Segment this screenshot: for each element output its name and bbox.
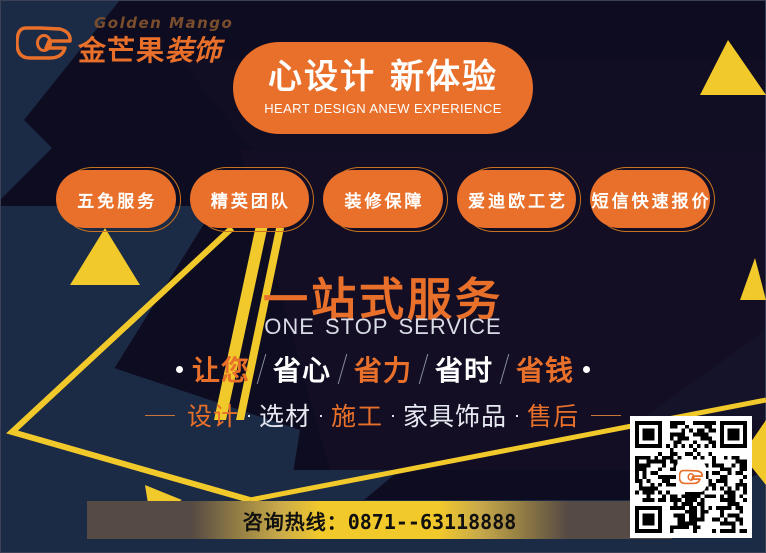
services-rule-left-icon — [145, 415, 175, 416]
logo-chinese-sub: 装饰 — [165, 35, 221, 66]
pill-item-1[interactable]: 五免服务 — [56, 170, 176, 228]
pill-label-4: 爱迪欧工艺 — [465, 187, 568, 212]
pill-body-3[interactable]: 装修保障 — [323, 170, 443, 228]
benefits-bullet-right-icon — [583, 366, 590, 373]
onestop-word-service: SERVICE — [399, 314, 502, 339]
headline-banner: 心设计新体验 HEART DESIGN ANEW EXPERIENCE — [233, 42, 533, 134]
pill-item-5[interactable]: 短信快速报价 — [590, 170, 710, 228]
pill-body-4[interactable]: 爱迪欧工艺 — [457, 170, 577, 228]
benefit-item-5: 省钱 — [516, 349, 574, 389]
benefits-row: 让您 省心 省力 省时 省钱 — [0, 350, 766, 388]
pill-body-2[interactable]: 精英团队 — [190, 170, 310, 228]
benefit-item-2: 省心 — [273, 349, 331, 389]
service-separator-3: · — [390, 405, 396, 426]
pill-label-3: 装修保障 — [341, 187, 424, 212]
qr-code[interactable] — [630, 416, 752, 538]
benefits-bullet-left-icon — [176, 366, 183, 373]
pill-label-1: 五免服务 — [74, 187, 157, 212]
service-item-4: 家具饰品 — [403, 397, 507, 433]
benefit-item-4: 省时 — [435, 349, 493, 389]
onestop-english-heading: ONESTOPSERVICE — [0, 314, 766, 340]
pill-label-2: 精英团队 — [208, 187, 291, 212]
service-separator-4: · — [514, 405, 520, 426]
benefit-separator-2-icon — [338, 354, 348, 384]
hotline-text: 咨询热线：0871--63118888 — [243, 506, 517, 535]
qr-code-canvas — [635, 421, 747, 533]
hotline-number[interactable]: 0871--63118888 — [348, 510, 517, 534]
benefit-separator-3-icon — [419, 354, 429, 384]
onestop-word-one: ONE — [264, 314, 315, 339]
logo-chinese-main: 金芒果 — [78, 35, 165, 66]
banner-chinese-right: 新体验 — [390, 58, 498, 96]
benefit-separator-1-icon — [257, 354, 267, 384]
golden-mango-logo-mark-icon — [679, 469, 703, 485]
pill-item-3[interactable]: 装修保障 — [323, 170, 443, 228]
banner-english-subtitle: HEART DESIGN ANEW EXPERIENCE — [264, 101, 502, 116]
brand-logo[interactable]: Golden Mango 金芒果装饰 — [16, 14, 216, 66]
service-item-3: 施工 — [331, 397, 383, 433]
banner-chinese-title: 心设计新体验 — [268, 60, 498, 96]
hotline-label: 咨询热线： — [243, 510, 348, 534]
hotline-bar: 咨询热线：0871--63118888 — [87, 501, 672, 539]
pill-item-2[interactable]: 精英团队 — [190, 170, 310, 228]
service-item-5: 售后 — [527, 397, 579, 433]
pill-body-5[interactable]: 短信快速报价 — [590, 170, 710, 228]
service-separator-1: · — [246, 405, 252, 426]
benefit-item-3: 省力 — [354, 349, 412, 389]
pill-label-5: 短信快速报价 — [589, 187, 712, 212]
feature-pill-row: 五免服务 精英团队 装修保障 爱迪欧工艺 短信快速报价 — [56, 170, 710, 228]
services-rule-right-icon — [591, 415, 621, 416]
pill-body-1[interactable]: 五免服务 — [56, 170, 176, 228]
poster-canvas: Golden Mango 金芒果装饰 心设计新体验 HEART DESIGN A… — [0, 0, 766, 553]
golden-mango-logo-mark-icon — [16, 26, 72, 60]
service-separator-2: · — [318, 405, 324, 426]
service-item-1: 设计 — [187, 397, 239, 433]
banner-chinese-left: 心设计 — [268, 58, 376, 96]
onestop-word-stop: STOP — [325, 314, 389, 339]
logo-chinese-text: 金芒果装饰 — [78, 29, 221, 69]
qr-center-logo — [676, 462, 706, 492]
benefit-item-1: 让您 — [192, 349, 250, 389]
benefit-separator-4-icon — [500, 354, 510, 384]
pill-item-4[interactable]: 爱迪欧工艺 — [457, 170, 577, 228]
service-item-2: 选材 — [259, 397, 311, 433]
